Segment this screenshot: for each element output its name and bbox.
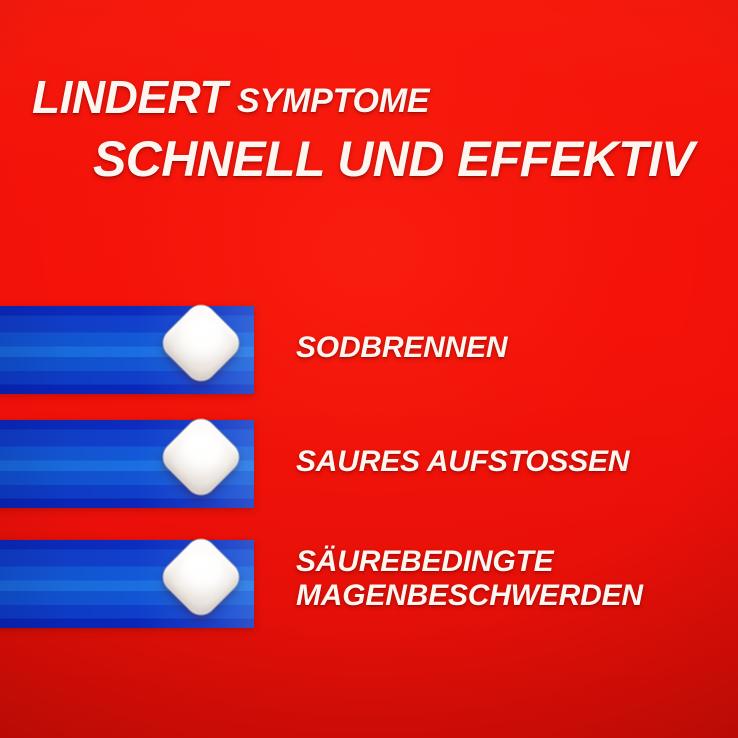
headline-line-2: SCHNELL UND EFFEKTIV	[0, 134, 738, 184]
headline-block: LINDERTSYMPTOME SCHNELL UND EFFEKTIV	[0, 74, 738, 184]
symptom-label: SODBRENNEN	[296, 331, 507, 365]
promo-banner: LINDERTSYMPTOME SCHNELL UND EFFEKTIV SOD…	[0, 0, 738, 738]
headline-line-1: LINDERTSYMPTOME	[0, 74, 738, 120]
headline-emphasis: LINDERT	[32, 71, 227, 123]
symptom-label: SAURES AUFSTOSSEN	[296, 445, 629, 479]
headline-subword: SYMPTOME	[237, 82, 429, 120]
symptom-label: SÄUREBEDINGTE MAGENBESCHWERDEN	[296, 545, 643, 612]
